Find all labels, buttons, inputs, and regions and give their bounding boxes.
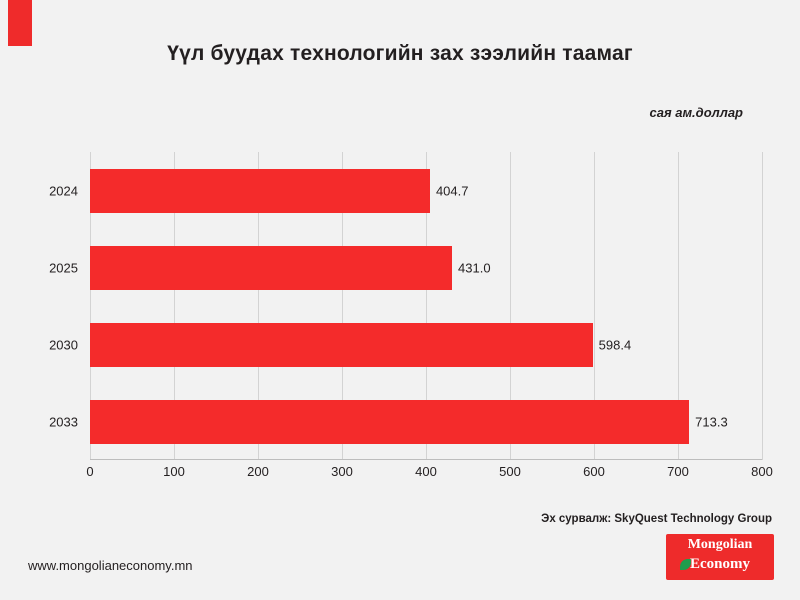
x-tick-label: 200 [247, 464, 269, 479]
chart-page: Үүл буудах технологийн зах зээлийн таама… [0, 0, 800, 600]
x-tick-label: 0 [86, 464, 93, 479]
bar-value-label: 431.0 [452, 260, 491, 275]
bar-row: 2030598.4 [90, 323, 762, 367]
x-tick-label: 500 [499, 464, 521, 479]
page-title: Үүл буудах технологийн зах зээлийн таама… [0, 42, 800, 66]
x-tick-label: 100 [163, 464, 185, 479]
category-label: 2033 [49, 414, 78, 429]
chart-plot-area: 2024404.72025431.02030598.42033713.3 010… [90, 152, 762, 460]
category-label: 2025 [49, 260, 78, 275]
bar-row: 2033713.3 [90, 400, 762, 444]
website-url: www.mongolianeconomy.mn [28, 558, 193, 573]
corner-accent-mark [8, 0, 32, 46]
gridline [762, 152, 763, 460]
bar-row: 2024404.7 [90, 169, 762, 213]
x-axis-line [90, 459, 762, 460]
bar-value-label: 598.4 [593, 337, 632, 352]
bar [90, 400, 689, 444]
x-tick-label: 800 [751, 464, 773, 479]
x-tick-label: 700 [667, 464, 689, 479]
bar-value-label: 713.3 [689, 414, 728, 429]
category-label: 2030 [49, 337, 78, 352]
bar-row: 2025431.0 [90, 246, 762, 290]
bar-value-label: 404.7 [430, 183, 469, 198]
logo-line-one: Mongolian [666, 537, 774, 553]
logo-line-two: Economy [666, 556, 774, 573]
x-tick-label: 300 [331, 464, 353, 479]
unit-label: сая ам.доллар [649, 105, 743, 120]
mongolian-economy-logo: Mongolian Economy [666, 534, 774, 580]
bar [90, 246, 452, 290]
x-tick-label: 600 [583, 464, 605, 479]
x-tick-label: 400 [415, 464, 437, 479]
bar [90, 323, 593, 367]
category-label: 2024 [49, 183, 78, 198]
bar [90, 169, 430, 213]
source-note: Эх сурвалж: SkyQuest Technology Group [541, 513, 772, 525]
